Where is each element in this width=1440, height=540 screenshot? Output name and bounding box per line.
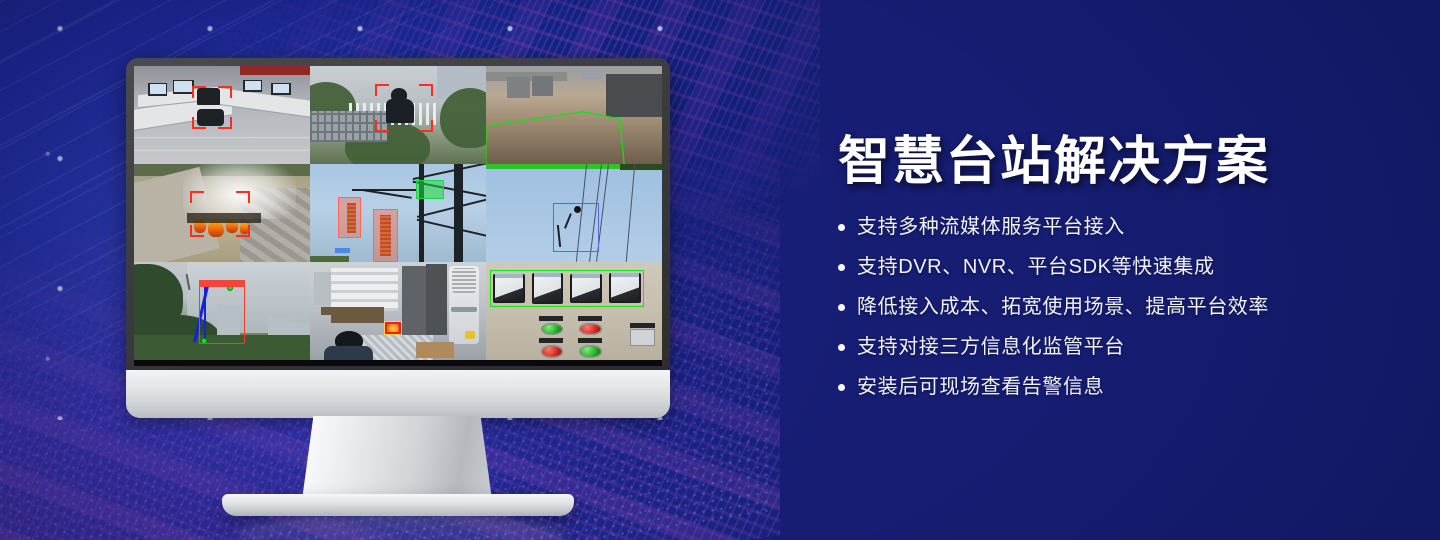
feature-label: 降低接入成本、拓宽使用场景、提高平台效率 xyxy=(857,297,1269,317)
bullet-dot-icon xyxy=(838,224,845,231)
feature-item: 降低接入成本、拓宽使用场景、提高平台效率 xyxy=(838,297,1378,317)
camera-tile-fire-smoke[interactable] xyxy=(134,164,310,262)
camera-tile-pole-tilt-angle[interactable] xyxy=(134,262,310,360)
monitor-stand-neck xyxy=(302,416,492,500)
feature-item: 支持对接三方信息化监管平台 xyxy=(838,337,1378,357)
bullet-dot-icon xyxy=(838,384,845,391)
camera-tile-equipment-room-worker[interactable] xyxy=(310,262,486,360)
monitor-chin xyxy=(126,370,670,418)
camera-tile-control-room-intrusion[interactable] xyxy=(134,66,310,164)
feature-label: 支持多种流媒体服务平台接入 xyxy=(857,217,1125,237)
feature-label: 支持对接三方信息化监管平台 xyxy=(857,337,1125,357)
camera-tile-fence-climb-person[interactable] xyxy=(310,66,486,164)
monitor-screen xyxy=(134,66,662,366)
feature-item: 支持DVR、NVR、平台SDK等快速集成 xyxy=(838,257,1378,277)
camera-tile-yard-zone-mask[interactable] xyxy=(486,66,662,164)
content-column: 智慧台站解决方案 支持多种流媒体服务平台接入 支持DVR、NVR、平台SDK等快… xyxy=(838,134,1378,417)
feature-label: 安装后可现场查看告警信息 xyxy=(857,377,1104,397)
banner-root: 智慧台站解决方案 支持多种流媒体服务平台接入 支持DVR、NVR、平台SDK等快… xyxy=(0,0,1440,540)
feature-label: 支持DVR、NVR、平台SDK等快速集成 xyxy=(857,257,1215,277)
zone-outline-icon xyxy=(486,66,662,164)
gauge-detection-box xyxy=(490,270,645,307)
bullet-dot-icon xyxy=(838,304,845,311)
camera-tile-transmission-tower-insulator[interactable] xyxy=(310,164,486,262)
bullet-dot-icon xyxy=(838,344,845,351)
feature-list: 支持多种流媒体服务平台接入 支持DVR、NVR、平台SDK等快速集成 降低接入成… xyxy=(838,217,1378,397)
camera-tile-powerline-foreign-object[interactable] xyxy=(486,164,662,262)
alert-icon xyxy=(384,321,402,335)
camera-tile-control-cabinet-gauges[interactable] xyxy=(486,262,662,360)
page-title: 智慧台站解决方案 xyxy=(838,134,1378,191)
feature-item: 安装后可现场查看告警信息 xyxy=(838,377,1378,397)
monitor-stand-base xyxy=(222,494,574,516)
camera-grid xyxy=(134,66,662,360)
bullet-dot-icon xyxy=(838,264,845,271)
feature-item: 支持多种流媒体服务平台接入 xyxy=(838,217,1378,237)
monitor-illustration xyxy=(126,58,670,490)
